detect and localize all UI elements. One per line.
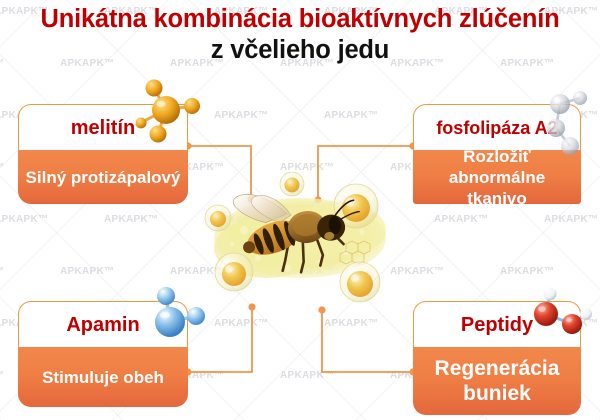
- title-line-secondary: z včelieho jedu: [0, 35, 600, 66]
- card-melitin-body: Silný protizápalový: [18, 150, 188, 204]
- honey-drop-bubble: [340, 262, 380, 302]
- card-fosfolipaza-a2-description: Rozložiť abnormálne tkanivo: [419, 146, 575, 209]
- card-apamin[interactable]: Apamin Stimuluje obeh: [18, 301, 188, 407]
- honey-drop-bubble: [280, 172, 304, 196]
- honey-drop-bubble: [205, 205, 231, 231]
- card-melitin-header: melitín: [18, 104, 188, 150]
- card-peptidy-body: Regenerácia buniek: [413, 347, 581, 415]
- card-peptidy-description: Regenerácia buniek: [419, 356, 575, 406]
- center-artwork: [196, 172, 408, 304]
- card-apamin-header: Apamin: [18, 301, 188, 347]
- card-apamin-title: Apamin: [66, 314, 139, 336]
- watermark-text: APKAPK™: [434, 214, 488, 225]
- title-line-primary: Unikátna kombinácia bioaktívnych zlúčení…: [0, 4, 600, 35]
- card-peptidy-title: Peptidy: [461, 314, 533, 336]
- connector-apamin: [188, 307, 252, 372]
- watermark-text: APKAPK™: [0, 214, 48, 225]
- watermark-text: APKAPK™: [214, 110, 268, 121]
- watermark-text: APKAPK™: [0, 266, 4, 277]
- card-fosfolipaza-a2-body: Rozložiť abnormálne tkanivo: [413, 150, 581, 204]
- watermark-text: APKAPK™: [324, 110, 378, 121]
- infographic-canvas: APKAPK™ APKAPK™ APKAPK™ APKAPK™ APKAPK™ …: [0, 0, 600, 420]
- watermark-text: APKAPK™: [214, 318, 268, 329]
- card-melitin-title: melitín: [71, 117, 135, 139]
- card-peptidy[interactable]: Peptidy Regenerácia buniek: [413, 301, 581, 415]
- card-peptidy-header: Peptidy: [413, 301, 581, 347]
- watermark-text: APKAPK™: [60, 266, 114, 277]
- watermark-text: APKAPK™: [0, 162, 4, 173]
- watermark-text: APKAPK™: [280, 370, 334, 381]
- card-melitin[interactable]: melitín Silný protizápalový: [18, 104, 188, 204]
- card-apamin-body: Stimuluje obeh: [18, 347, 188, 407]
- card-fosfolipaza-a2[interactable]: fosfolipáza A2 Rozložiť abnormálne tkani…: [413, 104, 581, 204]
- card-fosfolipaza-a2-header: fosfolipáza A2: [413, 104, 581, 150]
- page-title: Unikátna kombinácia bioaktívnych zlúčení…: [0, 4, 600, 66]
- watermark-text: APKAPK™: [0, 370, 4, 381]
- connector-peptidy: [322, 310, 413, 372]
- honey-drop-bubble: [215, 253, 253, 291]
- card-apamin-description: Stimuluje obeh: [42, 367, 164, 388]
- bee-honey-illustration: [196, 172, 408, 304]
- watermark-text: APKAPK™: [500, 266, 554, 277]
- card-melitin-description: Silný protizápalový: [26, 167, 181, 188]
- card-fosfolipaza-a2-title: fosfolipáza A2: [436, 117, 557, 139]
- watermark-text: APKAPK™: [104, 214, 158, 225]
- watermark-text: APKAPK™: [324, 318, 378, 329]
- watermark-text: APKAPK™: [544, 214, 598, 225]
